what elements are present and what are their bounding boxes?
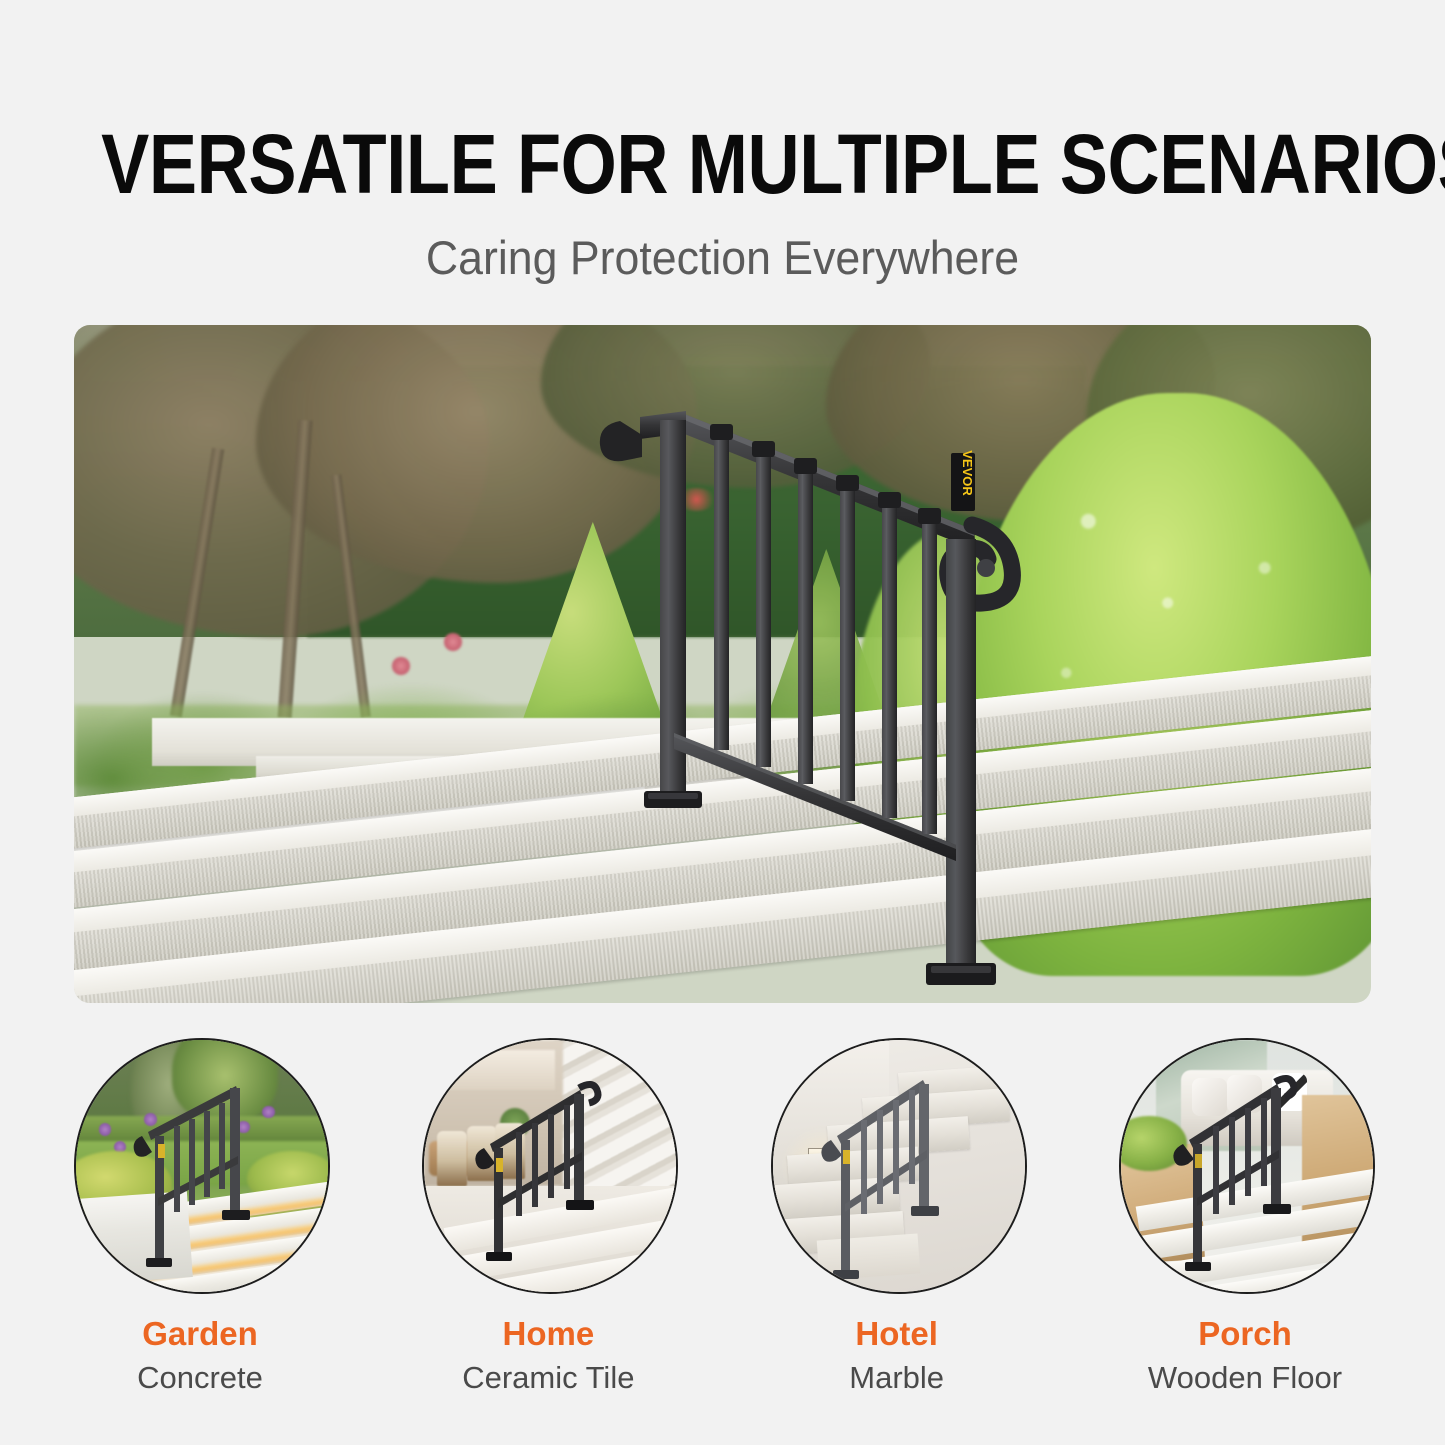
hero-image: VEVOR xyxy=(74,325,1371,1003)
card-title-hotel: Hotel xyxy=(771,1314,1023,1354)
hero-scene-garden: VEVOR xyxy=(74,325,1371,1003)
handrail-mini-porch xyxy=(1121,1040,1373,1292)
handrail-mini-garden xyxy=(76,1040,328,1292)
scenario-thumb-porch[interactable] xyxy=(1119,1038,1375,1294)
scenario-thumb-home[interactable] xyxy=(422,1038,678,1294)
scenario-card-list: Garden Concrete xyxy=(74,1038,1371,1438)
card-subtitle-garden: Concrete xyxy=(74,1358,326,1398)
scenario-thumb-hotel[interactable] xyxy=(771,1038,1027,1294)
handrail-product: VEVOR xyxy=(74,325,1371,1003)
handrail-mini-home xyxy=(424,1040,676,1292)
page-title: VERSATILE FOR MULTIPLE SCENARIOS xyxy=(101,118,1344,210)
card-title-porch: Porch xyxy=(1119,1314,1371,1354)
scenario-card-garden[interactable]: Garden Concrete xyxy=(74,1038,326,1438)
card-subtitle-hotel: Marble xyxy=(771,1358,1023,1398)
page-subtitle: Caring Protection Everywhere xyxy=(36,228,1409,288)
handrail-mini-hotel xyxy=(773,1040,1025,1292)
scenario-thumb-garden[interactable] xyxy=(74,1038,330,1294)
vevor-badge: VEVOR xyxy=(951,450,975,511)
scenario-card-home[interactable]: Home Ceramic Tile xyxy=(422,1038,674,1438)
scenario-card-porch[interactable]: Porch Wooden Floor xyxy=(1119,1038,1371,1438)
card-subtitle-home: Ceramic Tile xyxy=(422,1358,674,1398)
card-subtitle-porch: Wooden Floor xyxy=(1119,1358,1371,1398)
badge-label: VEVOR xyxy=(960,450,975,496)
card-title-home: Home xyxy=(422,1314,674,1354)
scenario-card-hotel[interactable]: Hotel Marble xyxy=(771,1038,1023,1438)
product-infographic: VERSATILE FOR MULTIPLE SCENARIOS Caring … xyxy=(0,0,1445,1445)
card-title-garden: Garden xyxy=(74,1314,326,1354)
bottom-rail xyxy=(674,733,956,861)
